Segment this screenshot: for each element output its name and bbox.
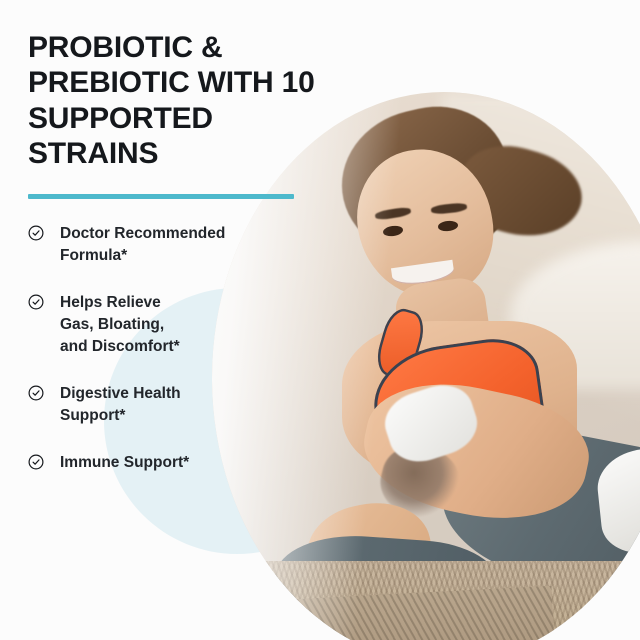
check-circle-icon: [28, 225, 44, 241]
page-title: PROBIOTIC & PREBIOTIC WITH 10 SUPPORTED …: [0, 0, 330, 172]
list-item: Doctor Recommended Formula*: [28, 223, 330, 268]
product-benefits-banner: PROBIOTIC & PREBIOTIC WITH 10 SUPPORTED …: [0, 0, 640, 640]
list-item: Digestive Health Support*: [28, 383, 330, 428]
benefit-label: Doctor Recommended Formula*: [60, 223, 225, 268]
benefits-list: Doctor Recommended Formula* Helps Reliev…: [0, 199, 330, 475]
list-item: Immune Support*: [28, 452, 330, 474]
benefit-label: Helps Relieve Gas, Bloating, and Discomf…: [60, 292, 180, 359]
list-item: Helps Relieve Gas, Bloating, and Discomf…: [28, 292, 330, 359]
check-circle-icon: [28, 294, 44, 310]
check-circle-icon: [28, 385, 44, 401]
benefit-label: Digestive Health Support*: [60, 383, 181, 428]
content-column: PROBIOTIC & PREBIOTIC WITH 10 SUPPORTED …: [0, 0, 330, 474]
check-circle-icon: [28, 454, 44, 470]
benefit-label: Immune Support*: [60, 452, 189, 474]
